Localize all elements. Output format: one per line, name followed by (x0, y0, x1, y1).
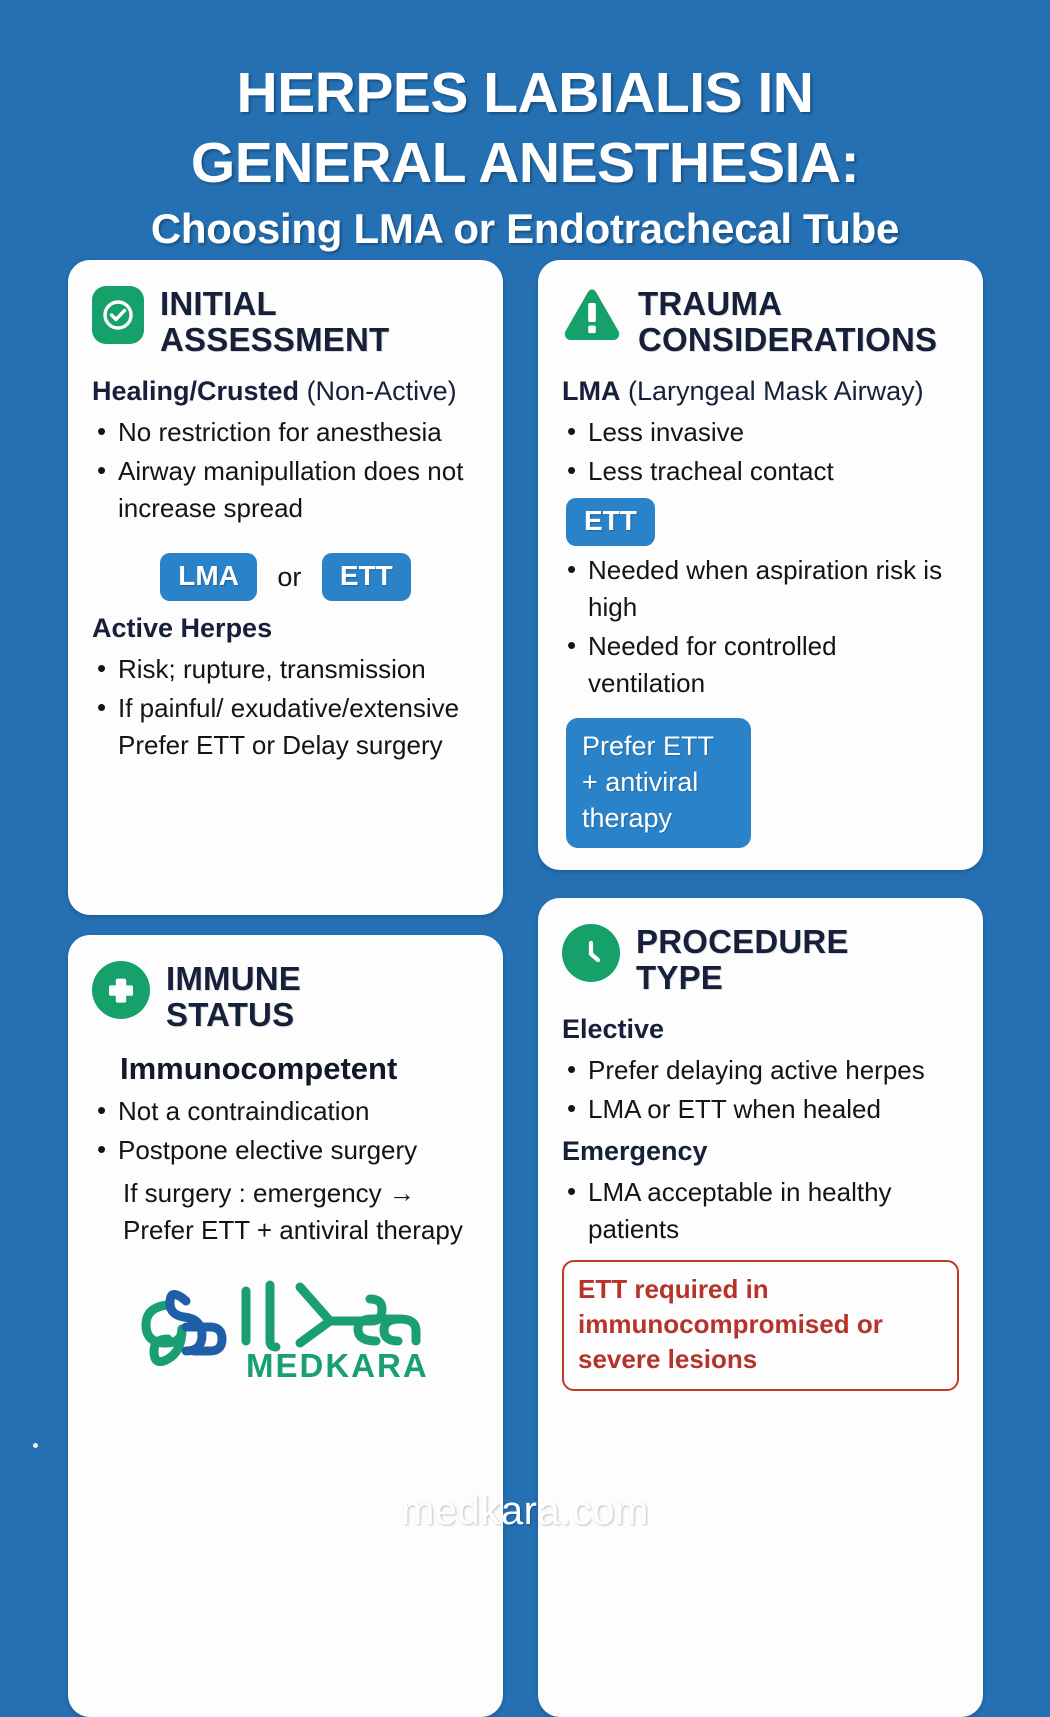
list-item: LMA acceptable in healthy patients (562, 1174, 959, 1248)
badge-lma: LMA (160, 553, 257, 601)
page-title-line-1: HERPES LABIALIS IN (0, 58, 1050, 128)
section-heading-bold: Emergency (562, 1136, 708, 1166)
section-heading-healing: Healing/Crusted (Non-Active) (92, 374, 479, 408)
bullet-list-emergency: LMA acceptable in healthy patients (562, 1174, 959, 1248)
medkara-logo-latin: MEDKARA (246, 1347, 429, 1383)
card-title-line-2: TYPE (636, 959, 723, 996)
page-title-line-2: GENERAL ANESTHESIA: (0, 128, 1050, 198)
section-heading-lma: LMA (Laryngeal Mask Airway) (562, 374, 959, 408)
bullet-list-healing: No restriction for anesthesia Airway man… (92, 414, 479, 527)
poster-header: HERPES LABIALIS IN GENERAL ANESTHESIA: C… (0, 0, 1050, 260)
section-heading-bold: Active Herpes (92, 613, 272, 643)
ett-badge-row: ETT (566, 498, 959, 546)
list-item: Needed when aspiration risk is high (562, 552, 959, 626)
card-title-line-1: TRAUMA (638, 285, 782, 322)
section-heading-immunocompetent: Immunocompetent (120, 1049, 479, 1089)
section-heading-elective: Elective (562, 1012, 959, 1046)
list-item: If painful/ exudative/extensive Prefer E… (92, 690, 479, 764)
medkara-logo-svg: MEDKARA (126, 1275, 446, 1383)
badge-ett: ETT (322, 553, 411, 601)
section-heading-active-herpes: Active Herpes (92, 611, 479, 645)
immune-extra-line-1: If surgery : emergency → (92, 1175, 479, 1212)
badge-ett: ETT (566, 498, 655, 546)
list-item-text: If painful/ exudative/extensive (118, 693, 459, 723)
callout-ett-required: ETT required in immunocompromised or sev… (562, 1260, 959, 1391)
clock-icon (562, 924, 620, 982)
callout-wrap: Prefer ETT + antiviral therapy (562, 708, 959, 848)
bullet-list-lma: Less invasive Less tracheal contact (562, 414, 959, 490)
list-item: Postpone elective surgery (92, 1132, 479, 1169)
card-title-line-2: CONSIDERATIONS (638, 321, 937, 358)
card-title-line-1: INITIAL (160, 285, 277, 322)
card-title-line-1: PROCEDURE (636, 923, 849, 960)
poster-footer: medkara.com (0, 1489, 1050, 1534)
list-item: Airway manipullation does not increase s… (92, 453, 479, 527)
callout-prefer-ett: Prefer ETT + antiviral therapy (566, 718, 751, 848)
check-circle-icon (92, 286, 144, 344)
list-item: Not a contraindication (92, 1093, 479, 1130)
section-heading-light: (Laryngeal Mask Airway) (628, 376, 924, 406)
list-item: Prefer delaying active herpes (562, 1052, 959, 1089)
section-heading-light: (Non-Active) (307, 376, 457, 406)
section-heading-bold: Elective (562, 1014, 664, 1044)
list-item: Less invasive (562, 414, 959, 451)
card-procedure-type: PROCEDURE TYPE Elective Prefer delaying … (538, 898, 983, 1717)
card-title-line-2: ASSESSMENT (160, 321, 389, 358)
plus-circle-icon (92, 961, 150, 1019)
card-title-line-1: IMMUNE (166, 960, 301, 997)
bullet-list-active-herpes: Risk; rupture, transmission If painful/ … (92, 651, 479, 764)
airway-badge-row: LMA or ETT (92, 553, 479, 601)
bullet-list-immune: Not a contraindication Postpone elective… (92, 1093, 479, 1169)
card-immune-status: IMMUNE STATUS Immunocompetent Not a cont… (68, 935, 503, 1717)
card-title: PROCEDURE TYPE (636, 924, 849, 996)
card-title: TRAUMA CONSIDERATIONS (638, 286, 937, 358)
immune-extra-line-2: Prefer ETT + antiviral therapy (92, 1212, 479, 1249)
card-header: TRAUMA CONSIDERATIONS (562, 286, 959, 358)
warning-triangle-icon (562, 286, 622, 344)
card-header: IMMUNE STATUS (92, 961, 479, 1033)
list-item: LMA or ETT when healed (562, 1091, 959, 1128)
list-item: Needed for controlled ventilation (562, 628, 959, 702)
card-initial-assessment: INITIAL ASSESSMENT Healing/Crusted (Non-… (68, 260, 503, 915)
section-heading-bold: LMA (562, 376, 620, 406)
section-heading-emergency: Emergency (562, 1134, 959, 1168)
list-item: Risk; rupture, transmission (92, 651, 479, 688)
section-heading-bold: Healing/Crusted (92, 376, 299, 406)
artifact-speck (33, 1443, 38, 1448)
cards-board: INITIAL ASSESSMENT Healing/Crusted (Non-… (0, 260, 1050, 1420)
list-item: No restriction for anesthesia (92, 414, 479, 451)
list-item: Less tracheal contact (562, 453, 959, 490)
medkara-logo: MEDKARA (92, 1275, 479, 1383)
bullet-list-elective: Prefer delaying active herpes LMA or ETT… (562, 1052, 959, 1128)
page-subtitle: Choosing LMA or Endotrachecal Tube (0, 198, 1050, 260)
website-url: medkara.com (401, 1489, 649, 1533)
list-item-continuation: Prefer ETT or Delay surgery (118, 727, 479, 764)
bullet-list-ett: Needed when aspiration risk is high Need… (562, 552, 959, 702)
card-title: INITIAL ASSESSMENT (160, 286, 389, 358)
card-title-line-2: STATUS (166, 996, 294, 1033)
card-trauma-considerations: TRAUMA CONSIDERATIONS LMA (Laryngeal Mas… (538, 260, 983, 870)
card-header: INITIAL ASSESSMENT (92, 286, 479, 358)
card-header: PROCEDURE TYPE (562, 924, 959, 996)
badge-conjunction: or (277, 562, 301, 593)
card-title: IMMUNE STATUS (166, 961, 301, 1033)
